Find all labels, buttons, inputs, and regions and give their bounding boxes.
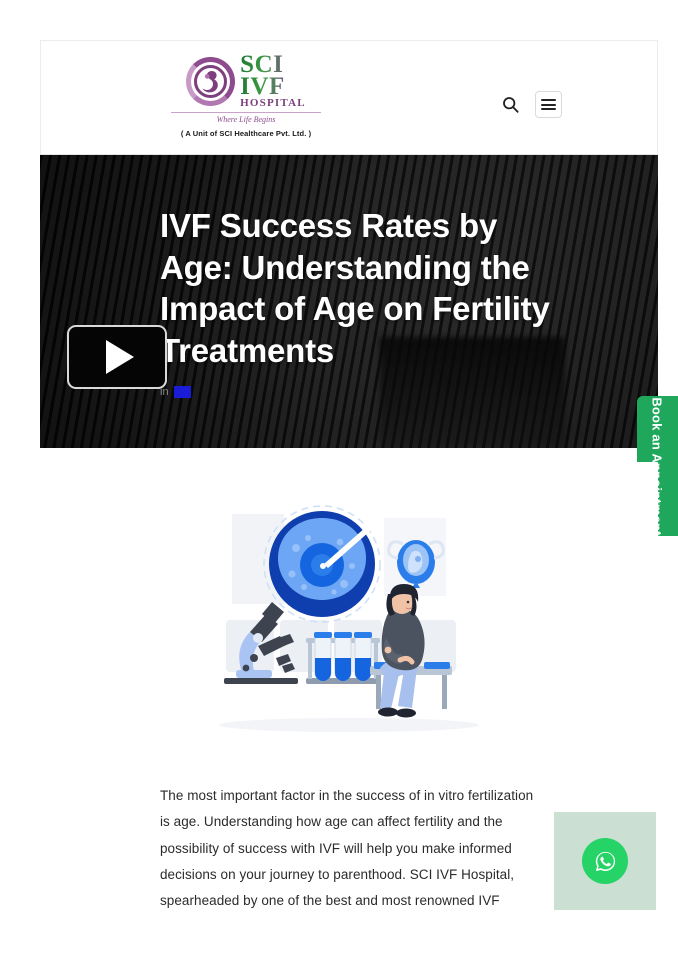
article-paragraph: The most important factor in the success… [160, 783, 535, 915]
woman-shoe-front [378, 708, 398, 717]
page-title: IVF Success Rates by Age: Understanding … [160, 205, 552, 371]
page-root: SCI IVF HOSPITAL Where Life Begins ( A U… [0, 0, 678, 960]
test-tube-1 [314, 632, 332, 681]
menu-button[interactable] [535, 91, 562, 118]
post-meta: in IVF [160, 386, 191, 398]
logo-wordmark: SCI IVF HOSPITAL [240, 54, 306, 109]
post-category-link[interactable]: IVF [174, 386, 191, 398]
logo-text-ivf: IVF [240, 76, 306, 98]
floor-shadow [219, 718, 479, 732]
sci-ivf-emblem-icon [186, 57, 235, 106]
ivf-laboratory-illustration [184, 482, 514, 752]
article-featured-illustration [40, 462, 658, 772]
logo-unit-line: ( A Unit of SCI Healthcare Pvt. Ltd. ) [181, 129, 311, 138]
site-header: SCI IVF HOSPITAL Where Life Begins ( A U… [40, 40, 658, 155]
test-tube-rack [306, 632, 380, 684]
woman-shoe-back [396, 709, 416, 718]
pregnant-woman [378, 584, 425, 718]
search-button[interactable] [499, 94, 521, 116]
header-actions [499, 91, 562, 118]
hero-banner: IVF Success Rates by Age: Understanding … [40, 155, 658, 448]
play-triangle-icon [106, 340, 134, 374]
logo-text-hospital: HOSPITAL [240, 99, 306, 109]
whatsapp-glyph [592, 848, 619, 875]
logo-main: SCI IVF HOSPITAL [186, 54, 306, 109]
hamburger-menu-icon [541, 97, 556, 113]
logo-tagline: Where Life Begins [171, 112, 321, 124]
site-logo[interactable]: SCI IVF HOSPITAL Where Life Begins ( A U… [166, 54, 326, 138]
whatsapp-icon [582, 838, 628, 884]
woman-leg-front [380, 672, 399, 709]
test-tube-2 [334, 632, 352, 681]
test-tube-3 [354, 632, 372, 681]
video-play-button[interactable] [67, 325, 167, 389]
mother-child-glyph [201, 70, 220, 93]
search-icon [502, 96, 519, 113]
whatsapp-chat-button[interactable] [554, 812, 656, 910]
woman-hand [385, 647, 392, 654]
